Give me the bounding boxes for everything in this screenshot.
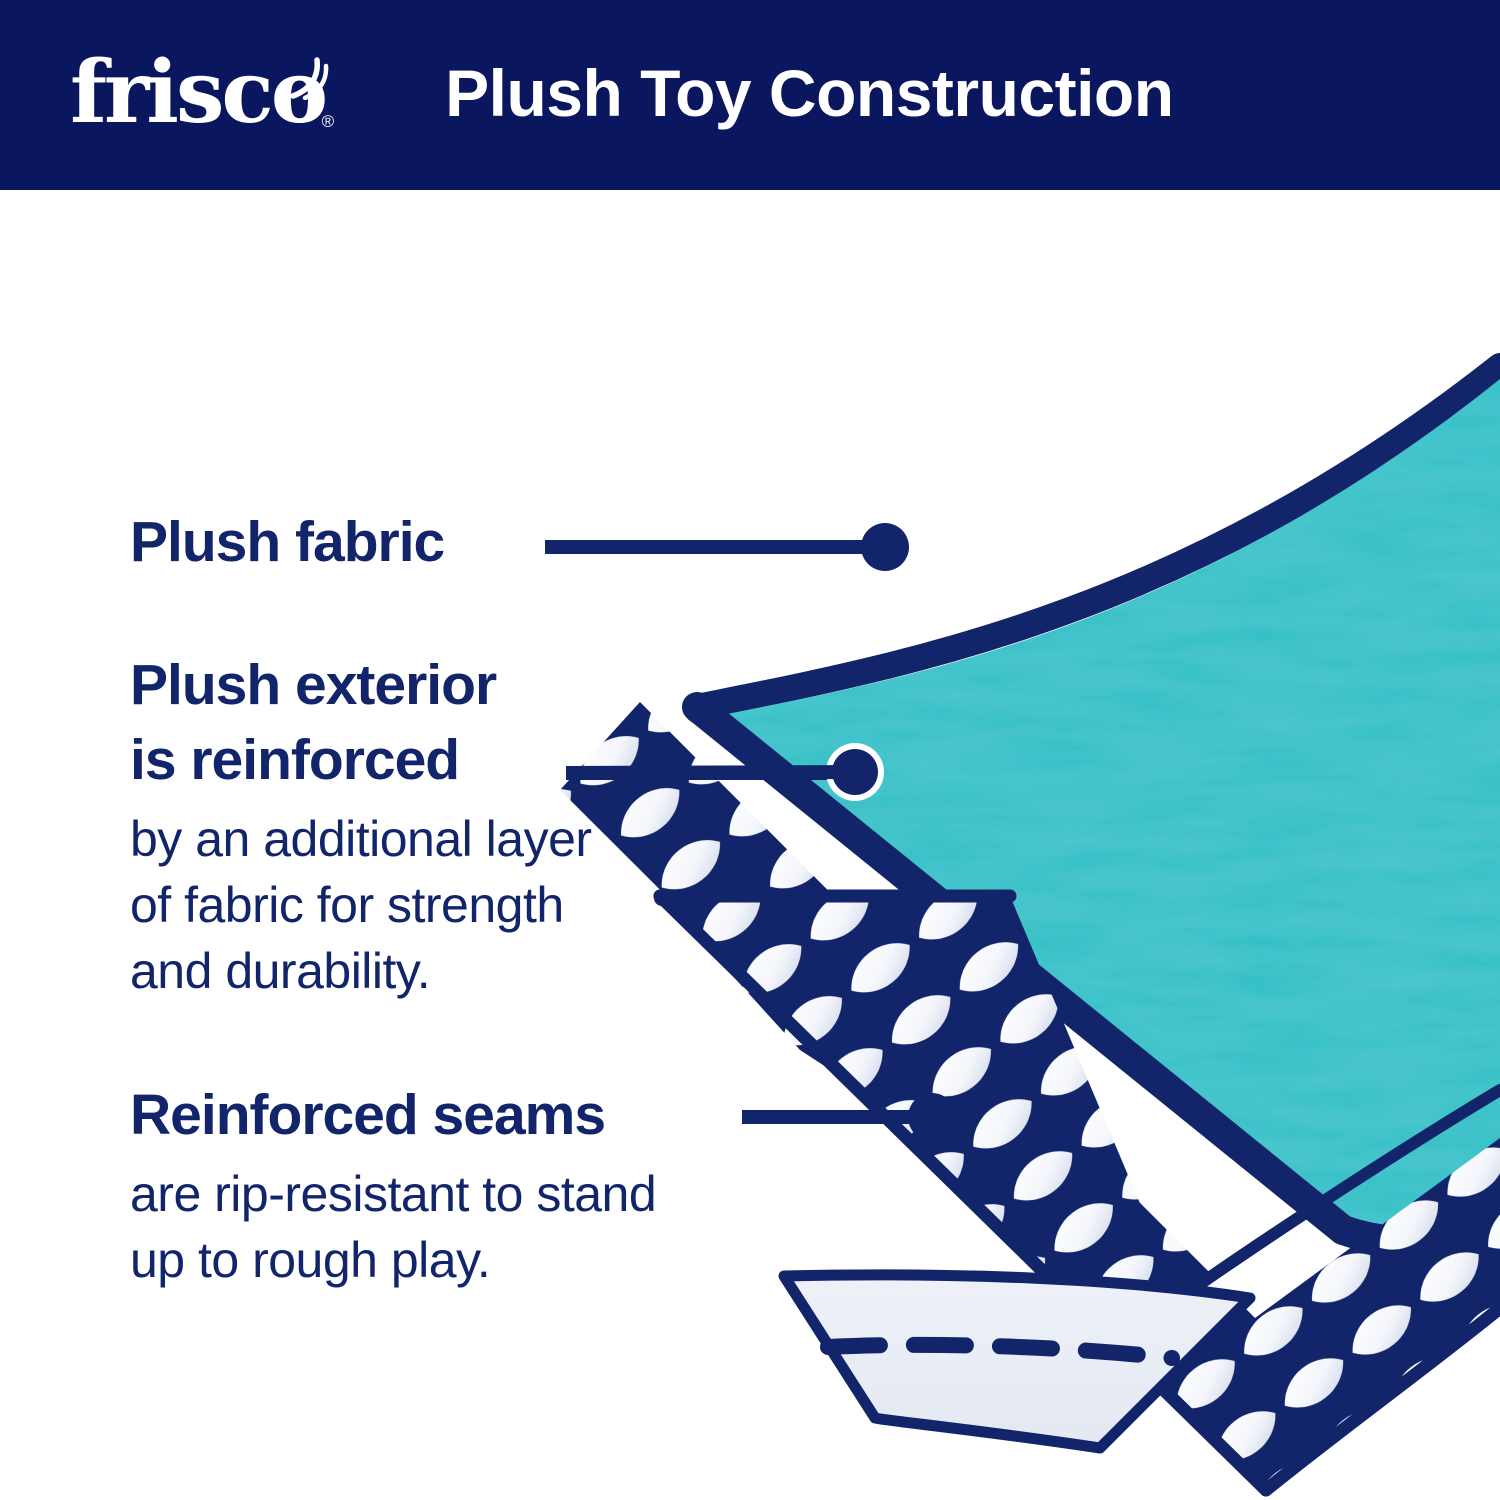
seam-flap-shape (784, 1275, 1250, 1448)
callout-plush-fabric-heading: Plush fabric (130, 505, 444, 580)
callout-plush-fabric: Plush fabric (130, 505, 444, 580)
frisco-logo-wordmark: frisco (70, 42, 325, 143)
mesh-corner-cap (654, 890, 670, 906)
registered-trademark-icon: ® (322, 113, 332, 130)
callout-plush-exterior-heading: Plush exterior is reinforced (130, 648, 592, 798)
frisco-logo: frisco ® (70, 50, 325, 136)
page-header: frisco ® Plush Toy Construction (0, 0, 1500, 190)
callout-reinforced-seams-body: are rip-resistant to stand up to rough p… (130, 1161, 656, 1293)
page-title: Plush Toy Construction (445, 55, 1173, 131)
callout-reinforced-seams-heading: Reinforced seams (130, 1078, 656, 1153)
callout-plush-exterior: Plush exterior is reinforced by an addit… (130, 648, 592, 1004)
callout-plush-exterior-body: by an additional layer of fabric for str… (130, 806, 592, 1004)
callout-reinforced-seams: Reinforced seams are rip-resistant to st… (130, 1078, 656, 1293)
plush-fabric-corner-cap (684, 694, 714, 724)
infographic-page: frisco ® Plush Toy Construction (0, 0, 1500, 1500)
reinforced-seam-flap (784, 1275, 1250, 1448)
